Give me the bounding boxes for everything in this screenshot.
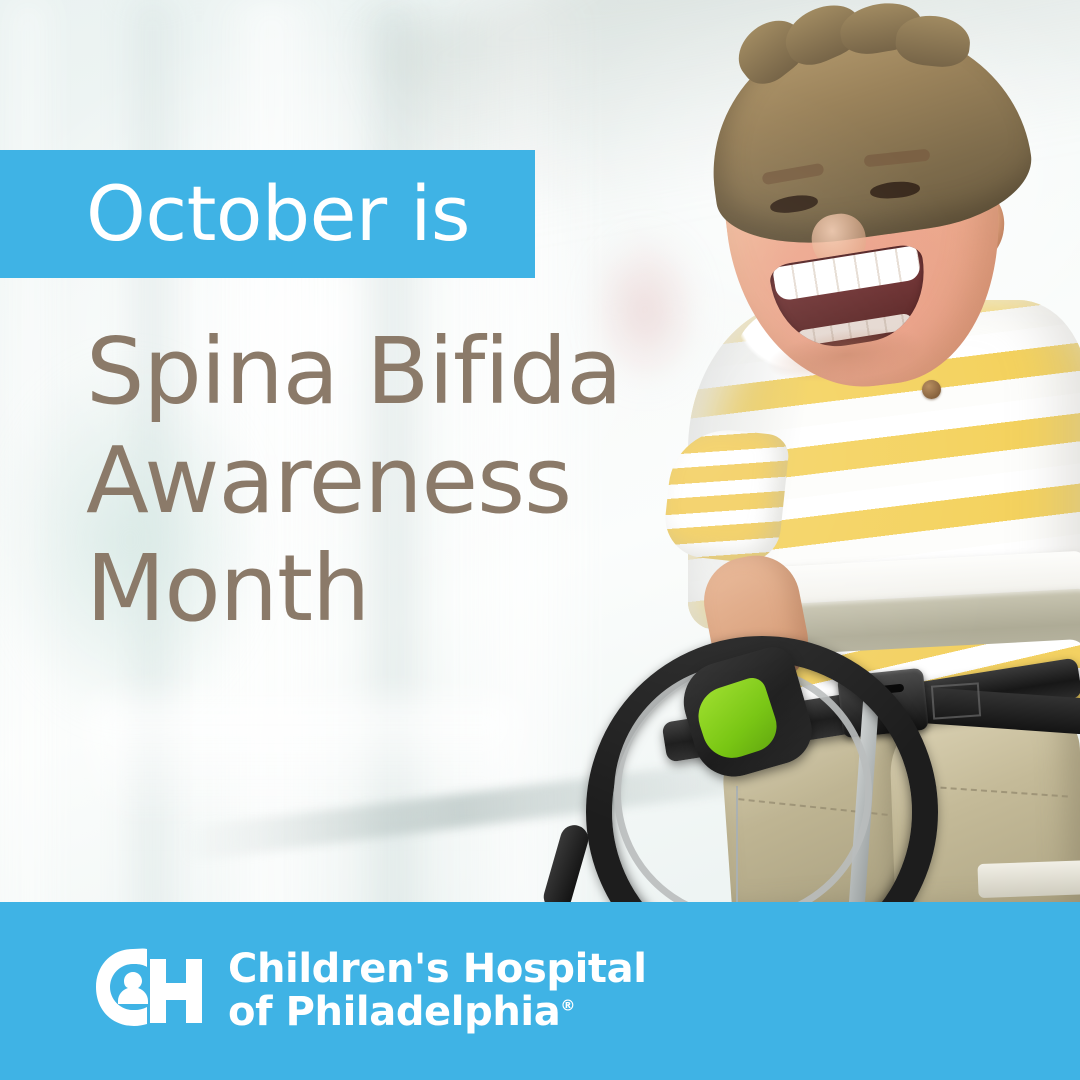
- belt-stitching: [931, 682, 981, 719]
- logo-line-1: Children's Hospital: [228, 948, 647, 991]
- wheelchair-push-handle: [540, 822, 591, 914]
- eyebrow-band: October is: [0, 150, 535, 278]
- registered-trademark-mark: ®: [560, 997, 575, 1015]
- footer-brand-bar: Children's Hospital of Philadelphia®: [0, 902, 1080, 1080]
- logo-line-2-wrap: of Philadelphia®: [228, 991, 647, 1034]
- background-wall-panel: [90, 700, 520, 880]
- headline-line-1: Spina Bifida: [86, 318, 706, 427]
- logo-line-2: of Philadelphia: [228, 989, 560, 1035]
- chop-logo-wordmark: Children's Hospital of Philadelphia®: [228, 948, 647, 1034]
- headline-line-3: Month: [86, 535, 706, 644]
- shirt-button: [922, 380, 941, 399]
- chop-ch-monogram-icon: [88, 945, 204, 1037]
- awareness-poster: October is Spina Bifida Awareness Month …: [0, 0, 1080, 1080]
- page-title: Spina Bifida Awareness Month: [86, 318, 706, 644]
- eyebrow-text: October is: [86, 176, 470, 252]
- headline-line-2: Awareness: [86, 427, 706, 536]
- wheel-spoke: [736, 786, 738, 908]
- chop-logo-lockup[interactable]: Children's Hospital of Philadelphia®: [88, 945, 647, 1037]
- wheelchair-seat-edge: [977, 860, 1080, 898]
